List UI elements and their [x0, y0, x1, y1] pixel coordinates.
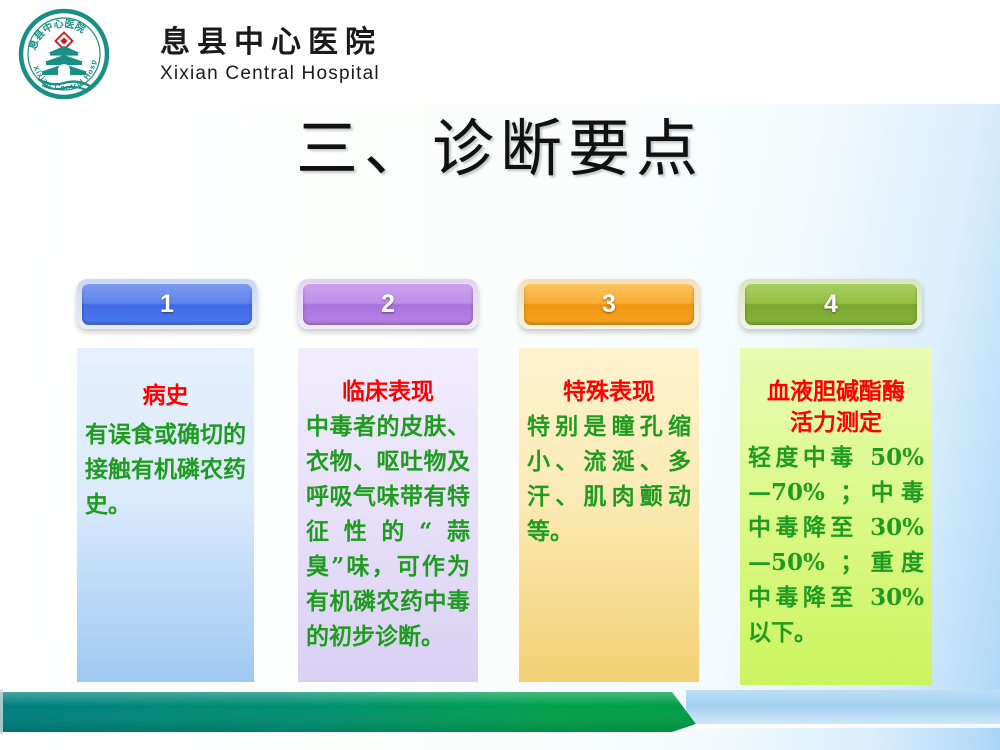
step-number-1: 1: [160, 290, 174, 319]
step-number-4: 4: [824, 290, 838, 319]
slide-canvas: 息县中心医院 Xixian Central Hospital: [0, 0, 1000, 750]
step-heading-4-line2: 活力测定: [744, 407, 928, 438]
hospital-emblem-icon: 息县中心医院 Xixian Central Hospital: [18, 8, 110, 100]
step-body-2: 中毒者的皮肤、衣物、呕吐物及呼吸气味带有特征性的“蒜臭”味，可作为有机磷农药中毒…: [302, 409, 474, 654]
step-body-4: 轻度中毒 50%—70% ；中毒中毒降至 30%—50% ；重度中毒降至 30%…: [744, 440, 928, 650]
step-button-2[interactable]: 2: [298, 279, 478, 329]
decorative-footer-ribbon: [0, 675, 1000, 750]
step-number-3: 3: [602, 290, 616, 319]
step-button-4[interactable]: 4: [740, 279, 922, 329]
step-button-1[interactable]: 1: [77, 279, 257, 329]
slide-header: 息县中心医院 Xixian Central Hospital: [0, 0, 1000, 104]
step-panel-2: 临床表现 中毒者的皮肤、衣物、呕吐物及呼吸气味带有特征性的“蒜臭”味，可作为有机…: [298, 348, 478, 682]
step-heading-3: 特殊表现: [523, 376, 695, 407]
step-heading-1: 病史: [81, 380, 250, 411]
step-button-3[interactable]: 3: [519, 279, 699, 329]
step-heading-4-line1: 血液胆碱酯酶: [767, 378, 905, 405]
hospital-name-en: Xixian Central Hospital: [160, 62, 382, 86]
step-heading-4: 血液胆碱酯酶 活力测定: [744, 376, 928, 438]
step-body-1: 有误食或确切的接触有机磷农药史。: [81, 417, 250, 522]
step-number-2: 2: [381, 290, 395, 319]
step-panel-3: 特殊表现 特别是瞳孔缩小、流涎、多汗、肌肉颤动等。: [519, 348, 699, 682]
page-title: 三、诊断要点: [0, 112, 1000, 186]
step-body-3: 特别是瞳孔缩小、流涎、多汗、肌肉颤动等。: [523, 409, 695, 549]
hospital-name-cn: 息县中心医院: [160, 26, 382, 60]
step-panel-1: 病史 有误食或确切的接触有机磷农药史。: [77, 348, 254, 682]
step-panel-4: 血液胆碱酯酶 活力测定 轻度中毒 50%—70% ；中毒中毒降至 30%—50%…: [740, 348, 932, 685]
hospital-brand: 息县中心医院 Xixian Central Hospital: [160, 26, 382, 86]
step-heading-2: 临床表现: [302, 376, 474, 407]
